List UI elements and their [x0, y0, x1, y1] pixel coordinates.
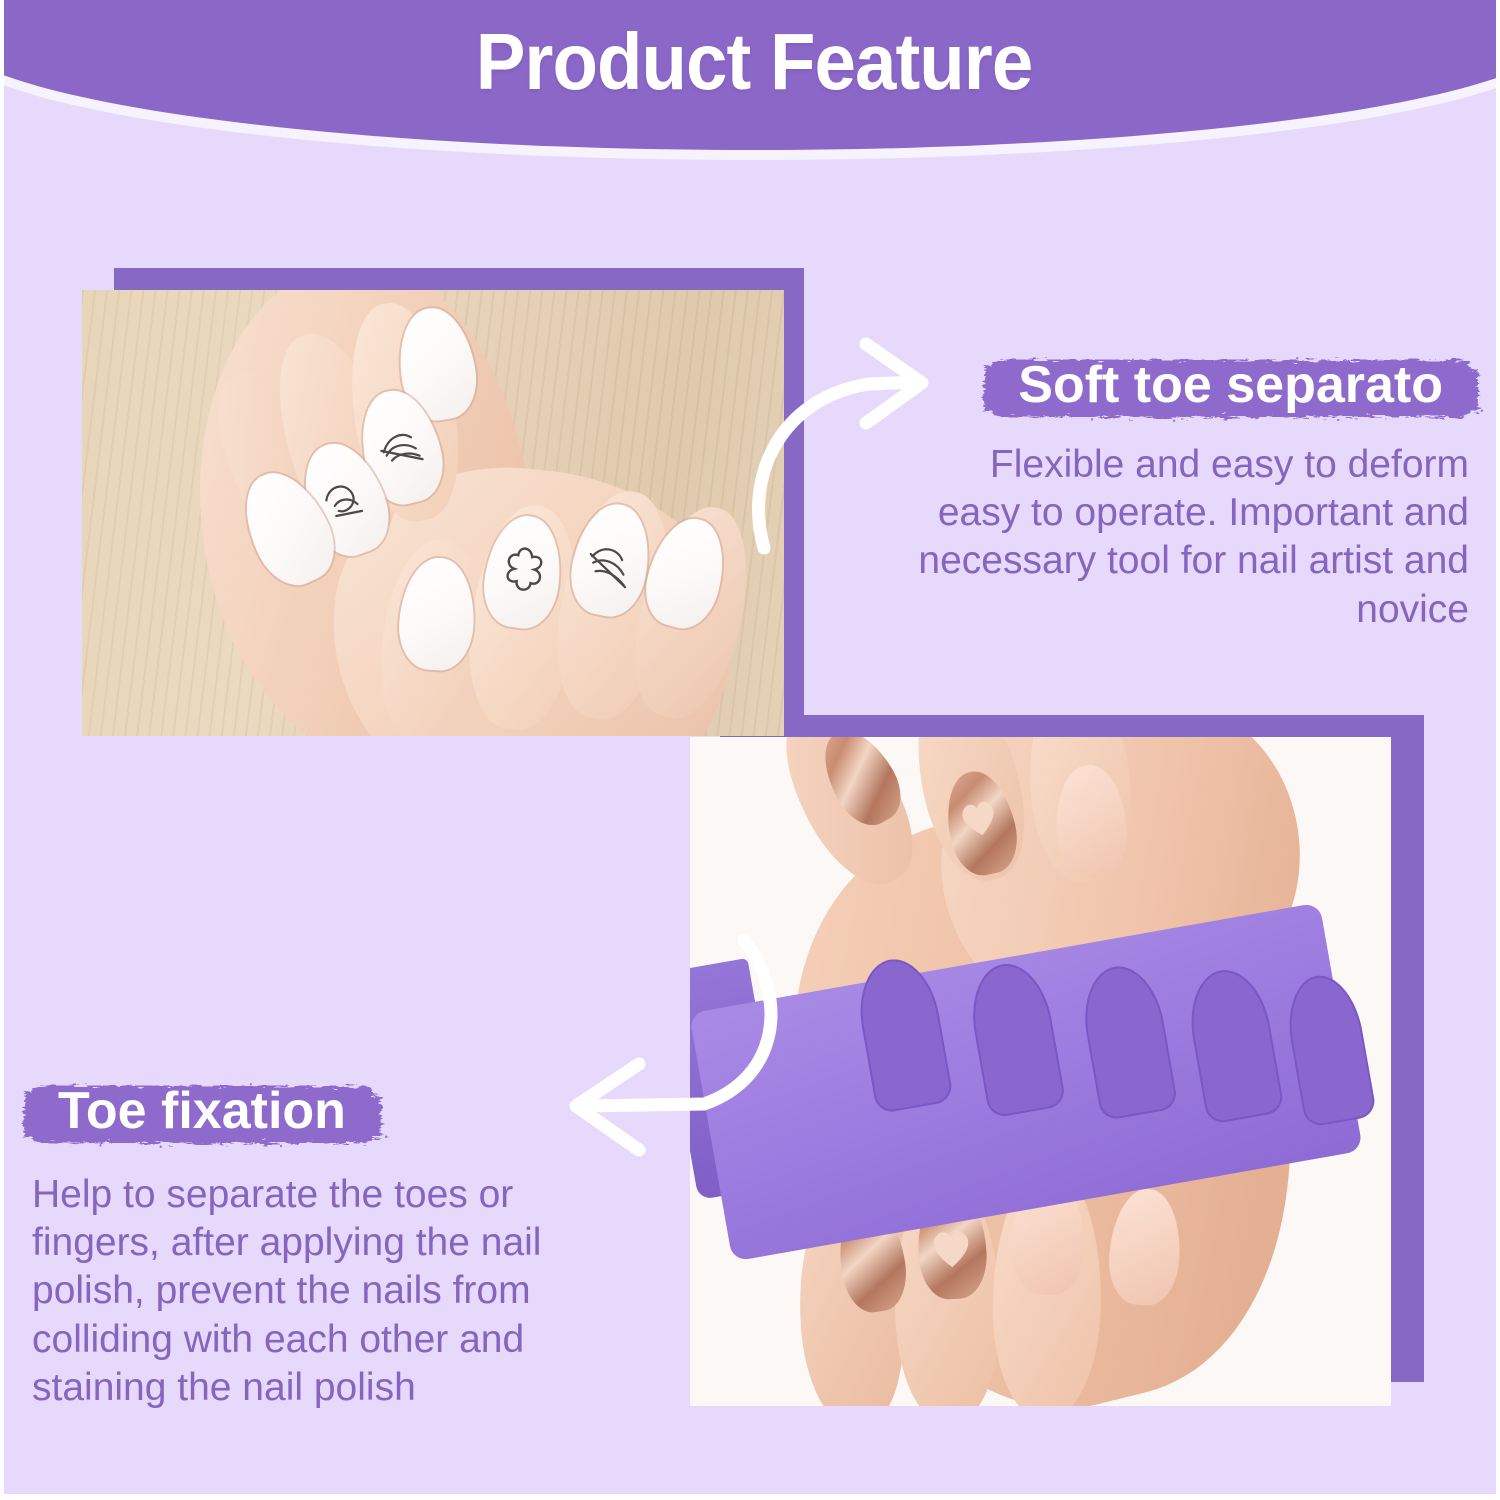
feature-title-badge-2: Toe fixation	[32, 1078, 372, 1149]
feature-block-toe-fixation: Toe fixation Help to separate the toes o…	[32, 1078, 607, 1412]
separator-slot	[1281, 970, 1378, 1128]
separator-slot	[851, 953, 954, 1114]
feature-title-1: Soft toe separato	[1018, 356, 1443, 414]
heart-accent-icon	[956, 796, 1001, 839]
feature-title-badge-1: Soft toe separato	[992, 352, 1469, 423]
infographic-page: Product Feature	[0, 0, 1500, 1500]
curved-arrow-left-icon	[544, 928, 864, 1228]
flower-decal-icon	[505, 547, 544, 592]
floral-decal-icon	[323, 482, 362, 521]
floral-decal-icon	[586, 546, 632, 587]
feature-title-2: Toe fixation	[58, 1082, 346, 1140]
curved-arrow-right-icon	[704, 318, 1004, 608]
nail-white-floral	[479, 511, 568, 632]
floral-decal-icon	[379, 431, 423, 468]
photo-white-floral-nails	[82, 290, 784, 736]
separator-slot	[1076, 960, 1179, 1121]
page-title: Product Feature	[57, 22, 1452, 102]
separator-slot	[964, 958, 1067, 1119]
separator-slot	[1182, 964, 1285, 1125]
feature-description-2: Help to separate the toes or fingers, af…	[32, 1171, 607, 1413]
